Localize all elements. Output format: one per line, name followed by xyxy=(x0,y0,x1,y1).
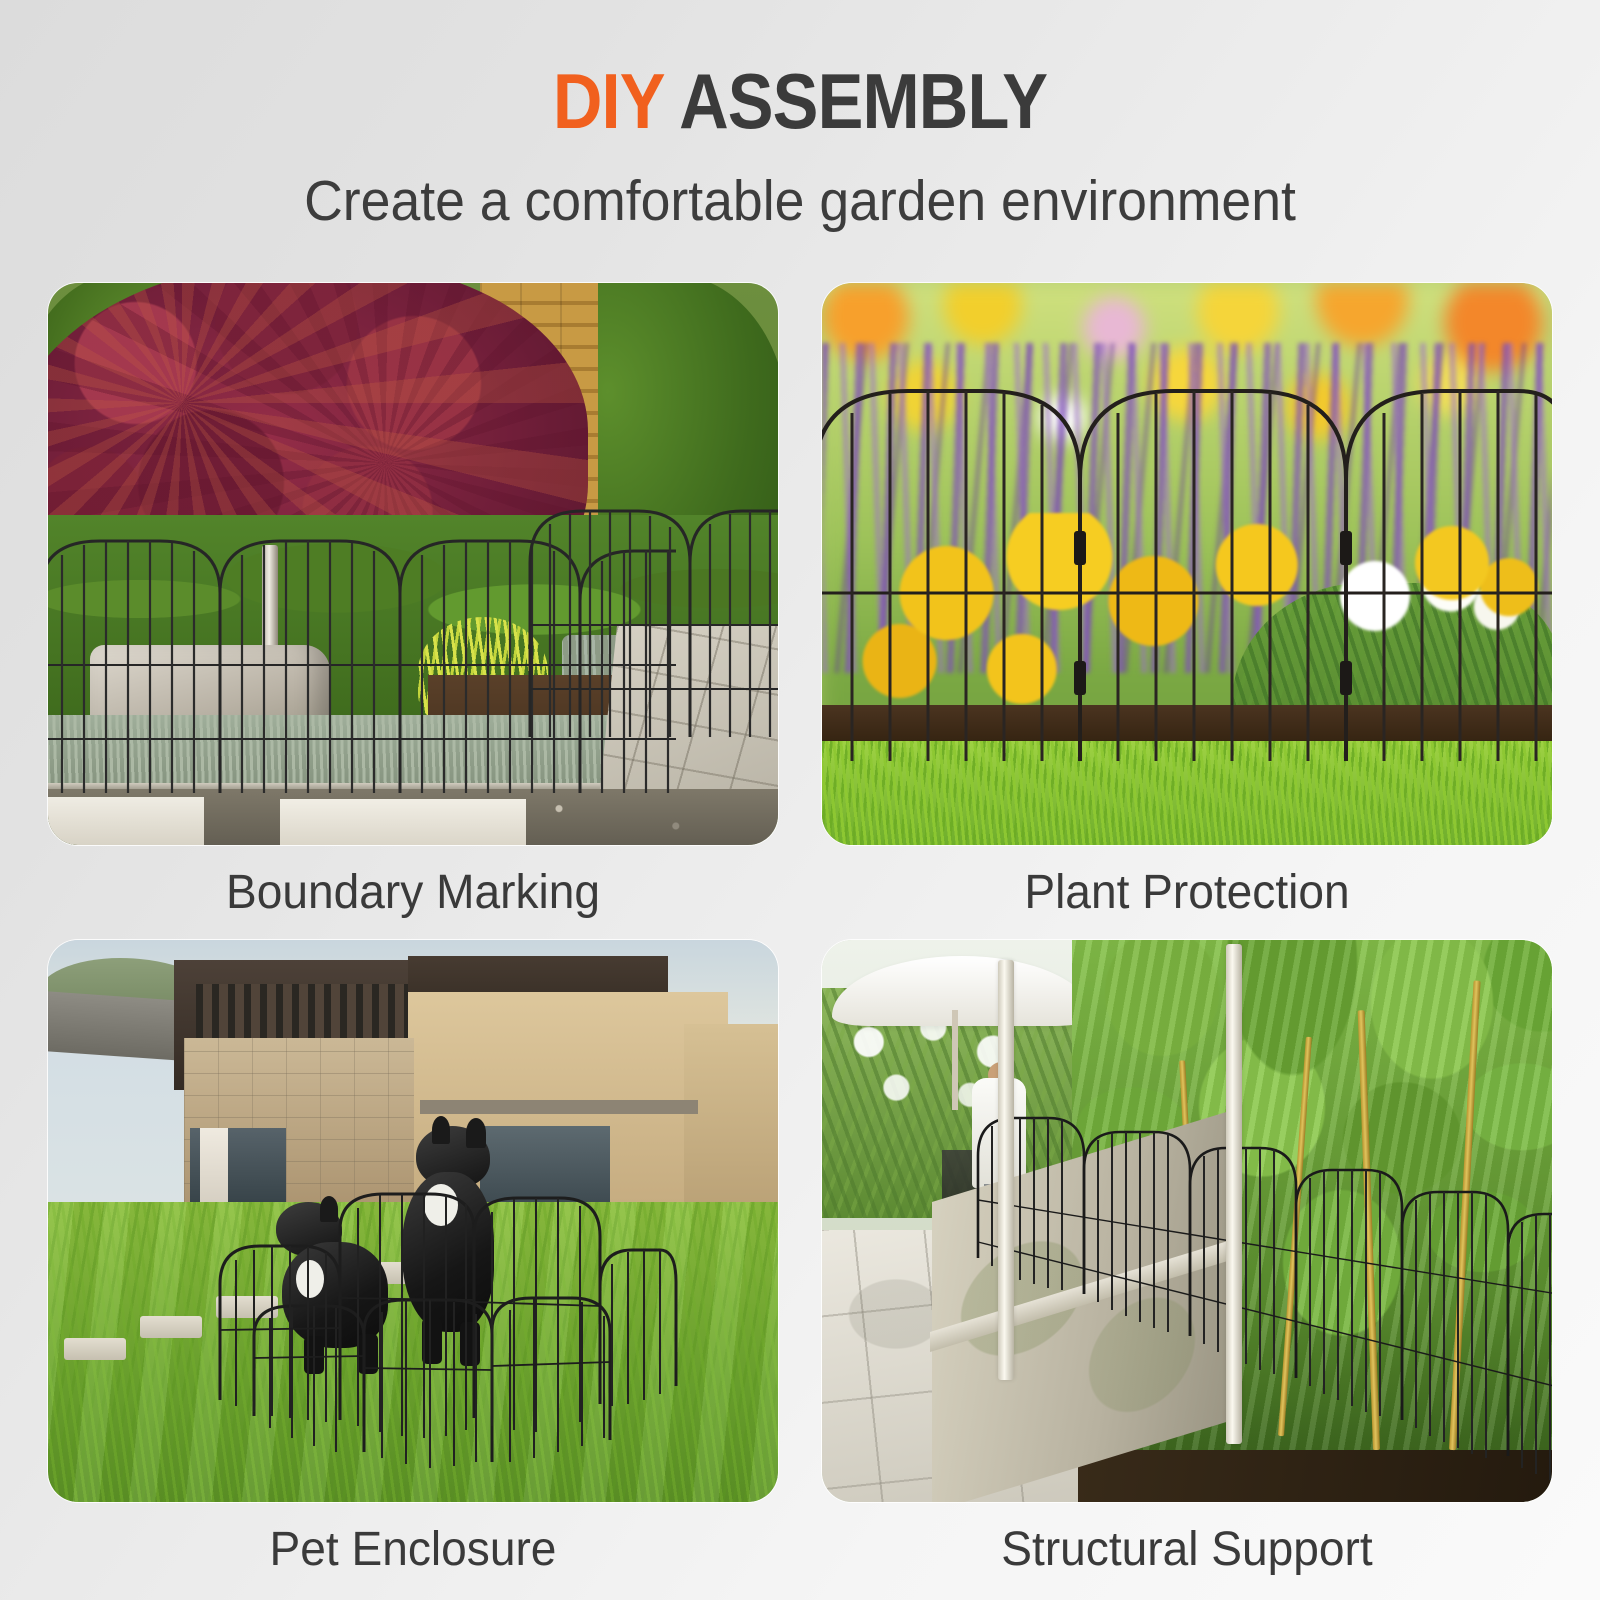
caption-structural-support: Structural Support xyxy=(837,1502,1538,1597)
photo-plant-protection xyxy=(822,283,1552,845)
paver-slab-right xyxy=(280,799,526,845)
photo-boundary-marking xyxy=(48,283,778,845)
villa-eave xyxy=(420,1100,698,1114)
photo-pet-enclosure xyxy=(48,940,778,1502)
wire-fence-panels-rear xyxy=(526,477,778,737)
dog-ear xyxy=(466,1118,486,1148)
page-subtitle: Create a comfortable garden environment xyxy=(48,168,1552,234)
page-title: DIY ASSEMBLY xyxy=(96,62,1504,142)
pet-pen-fence xyxy=(208,1190,678,1500)
title-accent: DIY xyxy=(553,57,664,145)
stepping-stone xyxy=(64,1338,126,1360)
umbrella-pole xyxy=(952,1010,958,1110)
feature-grid: Boundary Marking Plant Protection xyxy=(48,283,1552,1573)
caption-boundary-marking: Boundary Marking xyxy=(63,845,764,940)
caption-plant-protection: Plant Protection xyxy=(837,845,1538,940)
header: DIY ASSEMBLY Create a comfortable garden… xyxy=(0,0,1600,234)
villa-stucco-wall-right xyxy=(684,1024,778,1224)
wire-fence-panels xyxy=(822,361,1552,761)
white-support-post xyxy=(998,960,1014,1380)
wire-fence-panels xyxy=(972,1090,1552,1490)
stepping-stone xyxy=(140,1316,202,1338)
photo-structural-support xyxy=(822,940,1552,1502)
dog-ear xyxy=(432,1116,450,1144)
caption-pet-enclosure: Pet Enclosure xyxy=(63,1502,764,1597)
white-support-post xyxy=(1226,944,1242,1444)
paver-slab-left xyxy=(48,797,204,845)
title-main: ASSEMBLY xyxy=(679,57,1047,145)
